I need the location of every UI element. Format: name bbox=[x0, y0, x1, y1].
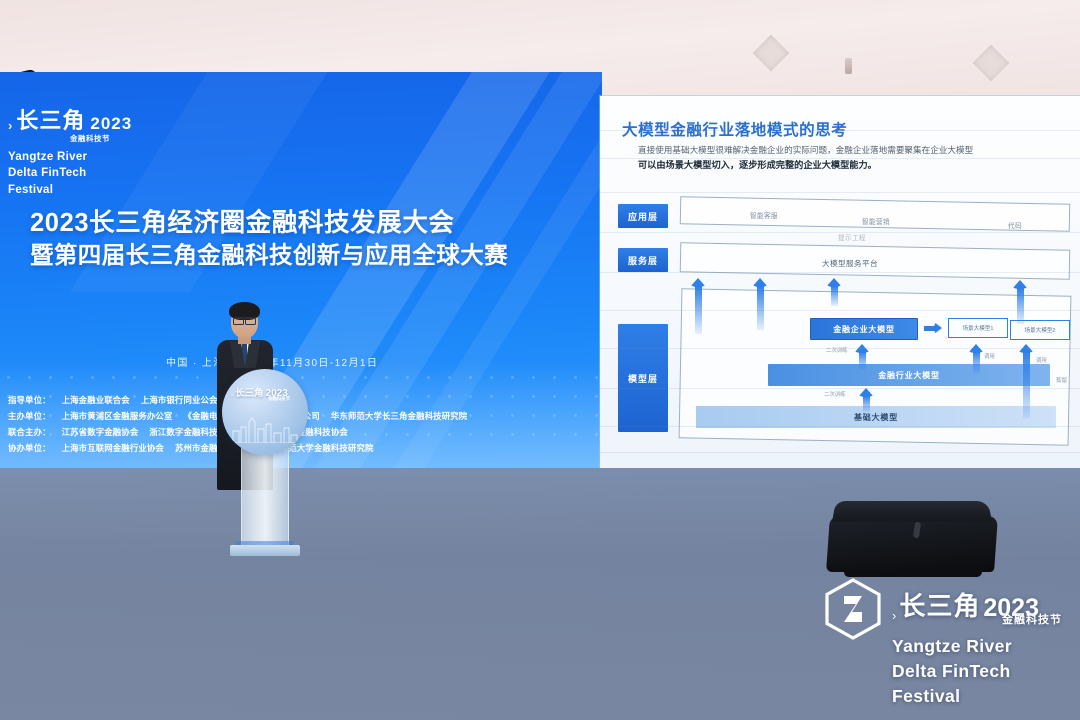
slide-title: 大模型金融行业落地模式的思考 bbox=[622, 118, 847, 140]
watermark-en-line2: Delta FinTech bbox=[892, 659, 1012, 684]
monitor-foot bbox=[844, 570, 982, 577]
podium-column bbox=[241, 441, 289, 547]
app-item-smart-service: 智能客服 bbox=[750, 210, 778, 220]
prompt-engineering-label: 提示工程 bbox=[838, 232, 866, 242]
foundation-model-box: 基础大模型 bbox=[696, 406, 1056, 428]
organizer-role: 协办单位： bbox=[8, 443, 51, 453]
logo-year: 2023 bbox=[90, 115, 132, 132]
backdrop-festival-logo: › 长三角 2023 金融科技节 Yangtze River Delta Fin… bbox=[8, 110, 188, 198]
app-item-code: 代码 bbox=[1008, 220, 1022, 230]
organizer-role: 主办单位： bbox=[8, 411, 51, 421]
layer-tag-application: 应用层 bbox=[618, 204, 668, 228]
watermark-chinese: 长三角 bbox=[899, 586, 980, 623]
podium: › 长三角 2023 金融科技节 bbox=[222, 369, 308, 563]
logo-en-line2: Delta FinTech bbox=[8, 165, 188, 181]
watermark-chevron-icon: › bbox=[892, 608, 896, 623]
conference-title: 2023长三角经济圈金融科技发展大会 暨第四届长三角金融科技创新与应用全球大赛 bbox=[30, 207, 575, 271]
conference-stage-photo: › 长三角 2023 金融科技节 Yangtze River Delta Fin… bbox=[0, 0, 1080, 720]
slide-body-line2: 可以由场景大模型切入，逐步形成完整的企业大模型能力。 bbox=[638, 158, 1070, 173]
annotation-retrain-2: 二次训练 bbox=[824, 390, 846, 398]
layer-tag-model: 模型层 bbox=[618, 324, 668, 432]
annotation-call-1: 调用 bbox=[984, 352, 995, 360]
podium-chevron-icon: › bbox=[231, 393, 233, 399]
organizer-name: 江苏省数字金融协会 bbox=[62, 427, 139, 437]
layer-tag-service: 服务层 bbox=[618, 248, 668, 272]
watermark-en-line1: Yangtze River bbox=[892, 634, 1012, 659]
industry-model-box: 金融行业大模型 bbox=[768, 364, 1050, 386]
hexagon-emblem-icon bbox=[822, 578, 884, 640]
podium-logo-disc: › 长三角 2023 金融科技节 bbox=[222, 369, 308, 455]
conference-title-line1: 2023长三角经济圈金融科技发展大会 bbox=[30, 207, 575, 240]
stage-monitor-speaker bbox=[828, 500, 996, 578]
watermark-en-line3: Festival bbox=[892, 684, 1012, 709]
podium-logo-festival: 金融科技节 bbox=[268, 396, 290, 402]
conference-title-line2: 暨第四届长三角金融科技创新与应用全球大赛 bbox=[30, 240, 575, 271]
presentation-screen: 大模型金融行业落地模式的思考 直接使用基础大模型很难解决金融企业的实际问题，金融… bbox=[600, 96, 1080, 468]
logo-chinese: 长三角 bbox=[16, 110, 85, 132]
organizer-role: 联合主办： bbox=[8, 427, 51, 437]
logo-en-line1: Yangtze River bbox=[8, 149, 188, 165]
watermark-logo: › 长三角 2023 金融科技节 Yangtze River Delta Fin… bbox=[822, 578, 1074, 713]
watermark-festival-cn: 金融科技节 bbox=[1002, 611, 1062, 627]
scene-model-box-1: 场景大模型1 bbox=[948, 318, 1008, 338]
podium-base bbox=[230, 545, 300, 556]
watermark-english: Yangtze River Delta FinTech Festival bbox=[892, 634, 1012, 709]
enterprise-model-box: 金融企业大模型 bbox=[810, 318, 918, 340]
organizer-name: 华东师范大学长三角金融科技研究院 bbox=[331, 411, 467, 421]
logo-chevron-icon: › bbox=[8, 119, 13, 132]
organizer-name: 上海市互联网金融行业协会 bbox=[62, 443, 164, 453]
monitor-top bbox=[832, 501, 992, 521]
organizer-name: 上海市黄浦区金融服务办公室 bbox=[62, 411, 173, 421]
annotation-call-2: 调用 bbox=[1036, 356, 1047, 364]
service-platform-label: 大模型服务平台 bbox=[822, 258, 878, 269]
organizer-name: 上海金融业联合会 bbox=[62, 395, 130, 405]
organizer-name: 上海市银行同业公会 bbox=[141, 395, 218, 405]
slide-body-line1: 直接使用基础大模型很难解决金融企业的实际问题，金融企业落地需要聚集在企业大模型 bbox=[638, 144, 1070, 158]
skyline-illustration-icon bbox=[229, 413, 301, 443]
monitor-face bbox=[826, 516, 998, 572]
logo-en-line3: Festival bbox=[8, 182, 188, 198]
logo-festival-cn: 金融科技节 bbox=[70, 133, 188, 144]
app-item-smart-marketing: 智能营销 bbox=[862, 216, 890, 226]
podium-logo-cn: 长三角 bbox=[235, 385, 264, 399]
glasses-icon bbox=[233, 317, 256, 322]
organizer-role: 指导单位： bbox=[8, 395, 51, 405]
annotation-distill: 蒸馏 bbox=[1056, 376, 1067, 384]
